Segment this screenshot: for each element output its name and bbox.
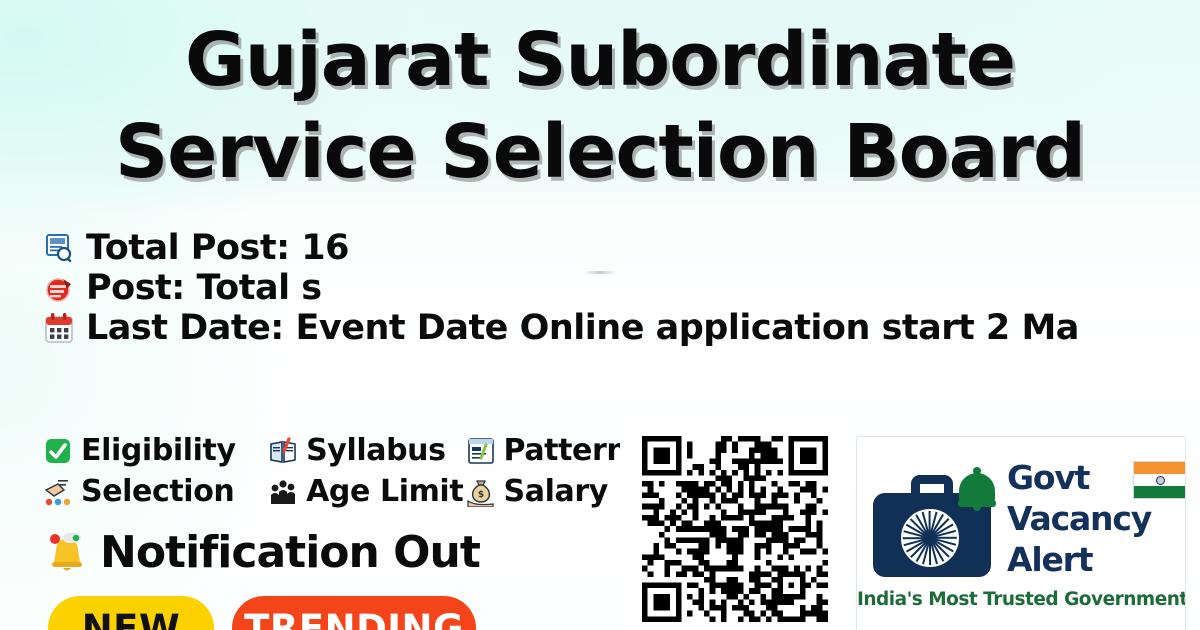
exam-paper-icon — [467, 436, 495, 466]
info-row-text: Total Post: 16 — [86, 228, 349, 268]
wordmark-line-2: Vacancy — [1007, 498, 1127, 539]
svg-text:$: $ — [477, 490, 483, 500]
flag-green-band — [1134, 486, 1186, 498]
ashoka-chakra-icon — [897, 505, 963, 571]
qr-card — [620, 418, 850, 630]
brand-tagline: India's Most Trusted Government Job Aler… — [857, 589, 1185, 610]
logo-mark: Govt Vacancy Alert — [867, 453, 1177, 583]
flag-white-band — [1134, 474, 1186, 486]
feature-grid: Eligibility Syllabus — [44, 430, 664, 512]
feature-label: Selection — [81, 475, 234, 509]
wordmark-line-1: Govt — [1007, 457, 1127, 498]
feature-row-1: Eligibility Syllabus — [44, 430, 664, 471]
calendar-icon — [44, 312, 74, 344]
info-row-text: Last Date: Event Date Online application… — [86, 308, 1079, 348]
badge-new[interactable]: NEW — [48, 596, 214, 630]
badge-trending[interactable]: TRENDING — [232, 596, 476, 630]
flag-saffron-band — [1134, 462, 1186, 474]
feature-label: Eligibility — [81, 434, 236, 468]
people-family-icon — [269, 477, 297, 507]
info-row-post: Post: Total s — [44, 268, 1200, 308]
info-row-last-date: Last Date: Event Date Online application… — [44, 308, 1200, 348]
bell-clapper — [973, 506, 981, 511]
brand-logo-card: Govt Vacancy Alert India's Most Trusted … — [856, 436, 1186, 630]
document-search-icon — [44, 232, 74, 264]
banner-canvas: Gujarat Subordinate Service Selection Bo… — [0, 0, 1200, 630]
feature-selection: Selection — [44, 475, 269, 509]
title-line-2: Service Selection Board — [0, 106, 1200, 198]
money-bag-hand-icon: $ — [467, 477, 495, 507]
green-bell-icon — [959, 467, 995, 513]
page-title: Gujarat Subordinate Service Selection Bo… — [0, 14, 1200, 198]
info-list: Total Post: 16 Post: Total s — [44, 228, 1200, 348]
india-flag-icon — [1133, 461, 1186, 499]
feature-syllabus: Syllabus — [269, 434, 466, 468]
badge-row: NEW TRENDING — [48, 596, 476, 630]
feature-label: Salary — [504, 475, 608, 509]
qr-code[interactable] — [642, 436, 828, 622]
feature-label: Pattern — [504, 434, 628, 468]
feature-row-2: Selection Age Limit $ — [44, 471, 664, 512]
feature-label: Syllabus — [306, 434, 445, 468]
news-stamp-icon — [44, 272, 74, 304]
feature-label: Age Limit — [306, 475, 463, 509]
info-row-text: Post: Total s — [86, 268, 322, 308]
feature-age-limit: Age Limit — [269, 475, 466, 509]
green-check-icon — [44, 436, 72, 466]
open-book-pen-icon — [269, 436, 297, 466]
feature-eligibility: Eligibility — [44, 434, 269, 468]
notification-banner: Notification Out — [46, 528, 480, 578]
bell-body — [959, 473, 995, 503]
info-row-total-post: Total Post: 16 — [44, 228, 1200, 268]
brand-wordmark: Govt Vacancy Alert — [1007, 457, 1127, 580]
title-line-1: Gujarat Subordinate — [0, 14, 1200, 106]
bell-notification-icon — [46, 531, 88, 575]
wordmark-line-3: Alert — [1007, 539, 1127, 580]
notification-label: Notification Out — [100, 528, 480, 578]
hand-selection-icon — [44, 477, 72, 507]
